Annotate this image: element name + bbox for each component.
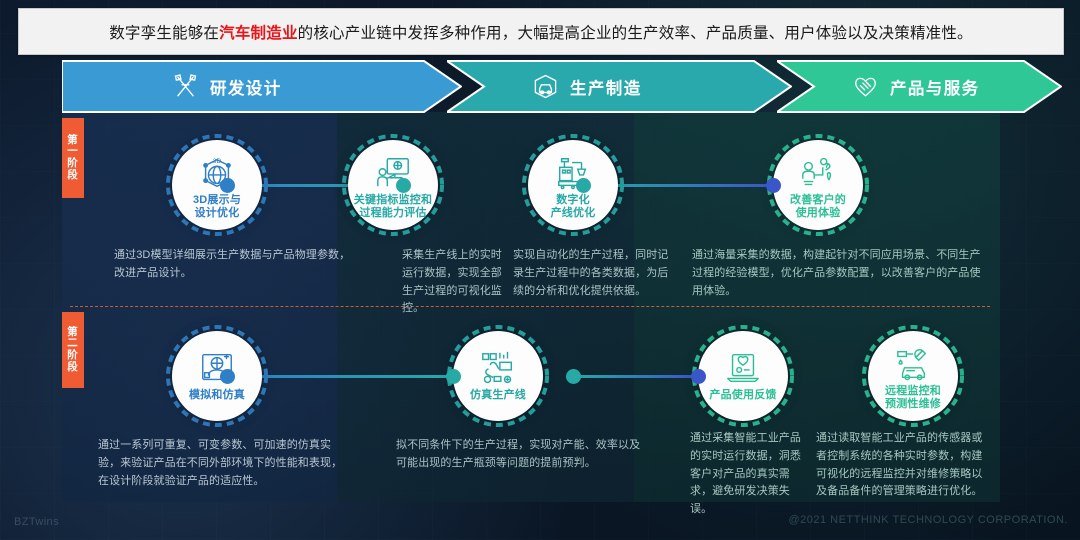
node-title-r2-3: 产品使用反馈	[709, 389, 776, 402]
footer-brand: BZTwins	[14, 516, 59, 528]
node-dot-r1-1	[220, 178, 235, 193]
title-banner: 数字孪生能够在汽车制造业的核心产业链中发挥多种作用，大幅提高企业的生产效率、产品…	[18, 8, 1064, 55]
node-title-line2-r1-3: 产线优化	[551, 207, 596, 220]
node-disc-r1-4: 改善客户的 使用体验	[773, 140, 863, 230]
drafting-tools-icon	[172, 73, 199, 100]
node-dot-r1-4	[766, 178, 781, 193]
desc-r1-4: 通过海量采集的数据，构建起针对不同应用场景、不同生产过程的经验模型，优化产品参数…	[692, 247, 984, 300]
handshake-heart-icon	[852, 73, 879, 100]
row-divider	[70, 306, 990, 307]
node-title-r2-1: 模拟和仿真	[189, 389, 245, 402]
banner-highlight: 汽车制造业	[219, 25, 298, 42]
stage-badge-1: 第 一 阶 段	[62, 118, 84, 198]
node-title-r2-4: 远程监控和 预测性维修	[885, 385, 941, 412]
node-disc-r2-4: 远程监控和 预测性维修	[868, 331, 958, 421]
phase-label-wrap-1: 研发设计	[172, 73, 282, 100]
node-disc-r2-2: 仿真生产线	[453, 331, 543, 421]
node-title-r1-1: 3D展示与 设计优化	[193, 194, 241, 221]
phase-arrow-bar: 研发设计 生产制造	[62, 60, 1062, 113]
desc-r2-4: 通过读取智能工业产品的传感器或者控制系统的各种实时参数，构建可视化的远程监控并对…	[816, 430, 988, 501]
node-title-r2-2: 仿真生产线	[470, 389, 526, 402]
node-dot-r2-3	[566, 369, 581, 384]
node-title-line1-r1-2: 关键指标监控和	[354, 194, 432, 207]
badge1-char3: 阶	[67, 158, 79, 170]
node-r1-2[interactable]: 关键指标监控和 过程能力评估	[341, 133, 445, 237]
banner-suffix: 的核心产业链中发挥多种作用，大幅提高企业的生产效率、产品质量、用户体验以及决策精…	[298, 25, 973, 42]
node-disc-r1-3: 数字化 产线优化	[528, 140, 618, 230]
node-disc-r2-1: 模拟和仿真	[172, 331, 262, 421]
badge1-char4: 段	[67, 170, 79, 182]
car-manufacture-icon	[532, 73, 559, 100]
connector-r2-b	[573, 375, 698, 378]
node-title-line1-r2-1: 模拟和仿真	[189, 389, 245, 402]
phase-label-wrap-2: 生产制造	[532, 73, 642, 100]
desc-r1-3: 实现自动化的生产过程，同时记录生产过程中的各类数据，为后续的分析和优化提供依据。	[513, 247, 678, 300]
node-title-line1-r2-2: 仿真生产线	[470, 389, 526, 402]
desc-r2-1: 通过一系列可重复、可变参数、可加速的仿真实验，来验证产品在不同外部环境下的性能和…	[98, 437, 348, 490]
desc-r2-2: 拟不同条件下的生产过程，实现对产能、效率以及可能出现的生产瓶颈等问题的提前预判。	[396, 437, 641, 473]
infographic-canvas: 数字孪生能够在汽车制造业的核心产业链中发挥多种作用，大幅提高企业的生产效率、产品…	[0, 0, 1080, 540]
product-feedback-icon	[724, 349, 762, 387]
node-title-line2-r1-4: 使用体验	[790, 207, 846, 220]
phase-arrow-research[interactable]: 研发设计	[62, 60, 462, 113]
node-disc-r1-2: 关键指标监控和 过程能力评估	[348, 140, 438, 230]
node-title-line1-r1-3: 数字化	[551, 194, 596, 207]
node-disc-r1-1: 3D 3D展示与 设计优化	[172, 140, 262, 230]
remote-maintenance-icon	[894, 345, 932, 383]
badge2-char4: 段	[67, 362, 79, 374]
badge2-char3: 阶	[67, 350, 79, 362]
stage-badge-2: 第 二 阶 段	[62, 312, 84, 388]
node-title-line2-r1-1: 设计优化	[193, 207, 241, 220]
node-title-line1-r2-4: 远程监控和	[885, 385, 941, 398]
virtual-line-hand-icon	[479, 349, 517, 387]
node-title-line1-r1-4: 改善客户的	[790, 194, 846, 207]
node-dot-r1-3	[576, 178, 591, 193]
customer-journey-icon	[799, 154, 837, 192]
node-title-line1-r2-3: 产品使用反馈	[709, 389, 776, 402]
node-title-line1-r1-1: 3D展示与	[193, 194, 241, 207]
desc-r1-2: 采集生产线上的实时运行数据，实现全部生产过程的可视化监控。	[402, 247, 512, 318]
banner-text: 数字孪生能够在汽车制造业的核心产业链中发挥多种作用，大幅提高企业的生产效率、产品…	[109, 21, 973, 43]
desc-r1-1: 通过3D模型详细展示生产数据与产品物理参数，改进产品设计。	[114, 247, 354, 283]
node-r1-3[interactable]: 数字化 产线优化	[521, 133, 625, 237]
phase-label-2: 生产制造	[570, 75, 642, 99]
desc-r2-3: 通过采集智能工业产品的实时运行数据，洞悉客户对产品的真实需求，避免研发决策失误。	[690, 430, 808, 519]
node-title-line2-r1-2: 过程能力评估	[354, 207, 432, 220]
node-dot-r1-2	[396, 178, 411, 193]
node-dot-r2-4	[691, 369, 706, 384]
node-title-line2-r2-4: 预测性维修	[885, 398, 941, 411]
node-dot-r2-1	[220, 369, 235, 384]
footer-copyright: @2021 NETTHINK TECHNOLOGY CORPORATION.	[788, 514, 1068, 526]
phase-arrow-service[interactable]: 产品与服务	[777, 60, 1062, 113]
node-dot-r2-2	[446, 369, 461, 384]
node-title-r1-3: 数字化 产线优化	[551, 194, 596, 221]
node-r1-1[interactable]: 3D 3D展示与 设计优化	[165, 133, 269, 237]
phase-label-3: 产品与服务	[890, 75, 980, 99]
node-title-r1-4: 改善客户的 使用体验	[790, 194, 846, 221]
phase-label-1: 研发设计	[210, 75, 282, 99]
phase-arrow-manufacture[interactable]: 生产制造	[447, 60, 792, 113]
node-title-r1-2: 关键指标监控和 过程能力评估	[354, 194, 432, 221]
phase-label-wrap-3: 产品与服务	[852, 73, 980, 100]
svg-text:3D: 3D	[213, 158, 222, 165]
node-r1-4[interactable]: 改善客户的 使用体验	[766, 133, 870, 237]
node-r2-1[interactable]: 模拟和仿真	[165, 324, 269, 428]
banner-prefix: 数字孪生能够在	[109, 25, 219, 42]
node-r2-3[interactable]: 产品使用反馈	[691, 324, 795, 428]
node-disc-r2-3: 产品使用反馈	[698, 331, 788, 421]
node-r2-2[interactable]: 仿真生产线	[446, 324, 550, 428]
node-r2-4[interactable]: 远程监控和 预测性维修	[861, 324, 965, 428]
